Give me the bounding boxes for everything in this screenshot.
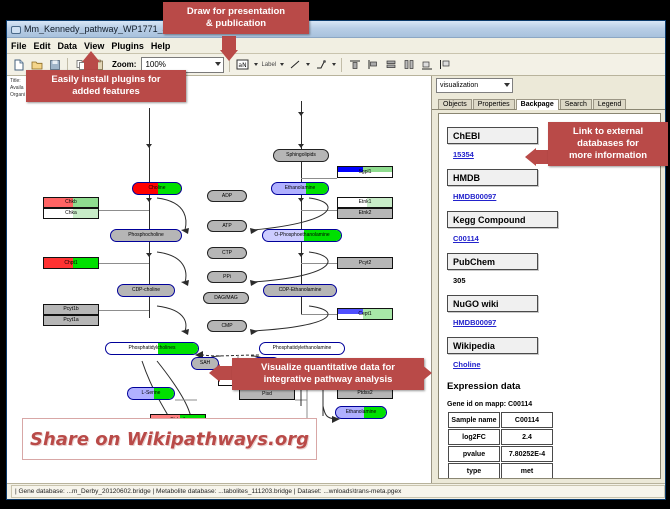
node-label: Pisd	[262, 392, 272, 397]
node-ethanolamine[interactable]: Ethanolamine	[271, 182, 329, 195]
db-value-pubchem: 305	[453, 276, 466, 285]
cell-label: pvalue	[448, 446, 500, 462]
node-label: Pcyt1a	[63, 318, 78, 323]
menu-item-help[interactable]: Help	[151, 41, 171, 51]
tab-objects[interactable]: Objects	[438, 99, 472, 109]
callout-draw-arrow	[220, 50, 238, 61]
node-pcyt1b[interactable]: Pcyt1b	[43, 304, 99, 315]
db-link-hmdb[interactable]: HMDB00097	[453, 192, 496, 201]
node-label: Chkb	[65, 200, 77, 205]
db-link-wikipedia[interactable]: Choline	[453, 360, 481, 369]
expression-data-title: Expression data	[447, 381, 660, 392]
gene-id-line: Gene id on mapp: C00114	[447, 401, 660, 408]
bring-front-icon[interactable]	[419, 57, 434, 72]
cell-label: type	[448, 463, 500, 479]
node-sphingolipids[interactable]: Sphingolipids	[273, 149, 329, 162]
node-label: DAG/MAG	[214, 296, 238, 301]
node-label: Phosphatidylcholines	[129, 346, 176, 351]
node-label: CDP-choline	[132, 288, 160, 293]
callout-draw-line1: Draw for presentation	[170, 6, 302, 18]
callout-links-line2: databases for	[555, 138, 661, 150]
menu-item-data[interactable]: Data	[58, 41, 78, 51]
callout-visualize: Visualize quantitative data for integrat…	[232, 358, 424, 390]
interaction-tool-icon[interactable]	[313, 57, 328, 72]
db-header-kegg: Kegg Compound	[447, 211, 558, 228]
node-phosphocholine[interactable]: Phosphocholine	[110, 229, 182, 242]
db-header-chebi: ChEBI	[447, 127, 538, 144]
backpage-content: ChEBI 15354 HMDB HMDB00097 Kegg Compound…	[438, 113, 661, 479]
node-label: Phosphocholine	[128, 233, 164, 238]
pathvisio-app-icon	[10, 24, 20, 34]
node-adp[interactable]: ADP	[207, 190, 247, 202]
node-label: Ethanolamine	[285, 186, 316, 191]
db-header-pubchem: PubChem	[447, 253, 538, 270]
node-dag-mag[interactable]: DAG/MAG	[203, 292, 249, 304]
db-header-hmdb: HMDB	[447, 169, 538, 186]
tab-properties[interactable]: Properties	[473, 99, 515, 109]
table-row: log2FC 2.4	[448, 429, 553, 445]
callout-share: Share on Wikipathways.org	[22, 418, 317, 460]
cell-label: Sample name	[448, 412, 500, 428]
callout-links-line1: Link to external	[555, 126, 661, 138]
node-etnk2[interactable]: Etnk2	[337, 208, 393, 219]
title-bar: Mm_Kennedy_pathway_WP1771_45176.gpml	[7, 21, 665, 38]
menu-item-edit[interactable]: Edit	[34, 41, 51, 51]
tab-legend[interactable]: Legend	[593, 99, 626, 109]
line-dropdown-icon[interactable]	[306, 63, 310, 66]
node-o-phosphoethanolamine[interactable]: O-Phosphoethanolamine	[262, 229, 342, 242]
callout-plugins-line1: Easily install plugins for	[33, 74, 179, 86]
visualization-row: visualization	[432, 76, 665, 95]
align-left-icon[interactable]	[365, 57, 380, 72]
node-ppi[interactable]: PPi	[207, 271, 247, 283]
node-sgpl1[interactable]: Sgpl1	[337, 166, 393, 178]
cell-value: 7.80252E-4	[501, 446, 553, 462]
db-link-kegg[interactable]: C00114	[453, 234, 479, 243]
node-pcyt2[interactable]: Pcyt2	[337, 257, 393, 269]
menu-item-view[interactable]: View	[84, 41, 104, 51]
label-tool-label: Label	[261, 62, 276, 68]
chevron-down-icon	[504, 83, 510, 87]
chevron-down-icon	[215, 62, 221, 66]
visualization-combobox[interactable]: visualization	[436, 78, 513, 93]
cell-value: C00114	[501, 412, 553, 428]
callout-plugins: Easily install plugins for added feature…	[26, 70, 186, 102]
node-label: Phosphatidylethanolamine	[273, 346, 332, 351]
screenshot-root: Mm_Kennedy_pathway_WP1771_45176.gpml Fil…	[0, 0, 670, 509]
node-label: O-Phosphoethanolamine	[274, 233, 329, 238]
node-label: CDP-Ethanolamine	[279, 288, 322, 293]
callout-visualize-arrow-right	[421, 364, 432, 382]
table-row: Sample name C00114	[448, 412, 553, 428]
cell-label: log2FC	[448, 429, 500, 445]
node-label: ATP	[222, 224, 231, 229]
db-header-nugo: NuGO wiki	[447, 295, 538, 312]
node-l-serine-left[interactable]: L-Serine	[127, 387, 175, 400]
tab-search[interactable]: Search	[560, 99, 592, 109]
node-ctp[interactable]: CTP	[207, 247, 247, 259]
node-label: Choline	[149, 186, 166, 191]
node-chka[interactable]: Chka	[43, 208, 99, 219]
node-label: ADP	[222, 194, 232, 199]
callout-plugins-arrow	[82, 51, 100, 62]
node-label: Ethanolamine	[346, 410, 377, 415]
menu-item-file[interactable]: File	[11, 41, 27, 51]
node-label: CMP	[221, 324, 232, 329]
svg-text:aN: aN	[239, 62, 247, 69]
node-label: PPi	[223, 275, 231, 280]
same-width-icon[interactable]	[401, 57, 416, 72]
node-ethanolamine-2[interactable]: Ethanolamine	[335, 406, 387, 419]
node-label: Etnk2	[359, 211, 372, 216]
node-choline[interactable]: Choline	[132, 182, 182, 195]
cell-value: met	[501, 463, 553, 479]
callout-visualize-line2: integrative pathway analysis	[239, 374, 417, 386]
callout-draw-stem	[222, 36, 236, 50]
align-top-icon[interactable]	[347, 57, 362, 72]
label-dropdown-icon[interactable]	[280, 63, 284, 66]
status-bar-inner: | Gene database: ...m_Derby_20120602.bri…	[11, 485, 665, 498]
zoom-value: 100%	[145, 60, 165, 69]
table-row: pvalue 7.80252E-4	[448, 446, 553, 462]
node-label: Pcyt2	[359, 261, 372, 266]
callout-visualize-arrow	[209, 364, 220, 382]
callout-share-text: Share on Wikipathways.org	[30, 429, 309, 450]
table-row: type met	[448, 463, 553, 479]
node-chkb[interactable]: Chkb	[43, 197, 99, 208]
node-chpt1[interactable]: Chpt1	[43, 257, 99, 269]
callout-links: Link to external databases for more info…	[548, 122, 668, 166]
node-phosphatidylethanolamine[interactable]: Phosphatidylethanolamine	[259, 342, 345, 355]
node-cdp-choline[interactable]: CDP-choline	[117, 284, 175, 297]
node-label: Etnk1	[359, 200, 372, 205]
node-etnk1[interactable]: Etnk1	[337, 197, 393, 208]
node-phosphatidylcholines[interactable]: Phosphatidylcholines	[105, 342, 199, 355]
visualization-value: visualization	[440, 82, 478, 89]
send-back-icon[interactable]	[437, 57, 452, 72]
node-label: Pcyt1b	[63, 307, 78, 312]
node-cdp-ethanolamine[interactable]: CDP-Ethanolamine	[263, 284, 337, 297]
toolbar-separator-3	[341, 58, 342, 72]
callout-visualize-line1: Visualize quantitative data for	[239, 362, 417, 374]
status-bar: | Gene database: ...m_Derby_20120602.bri…	[7, 483, 665, 499]
cell-value: 2.4	[501, 429, 553, 445]
callout-links-line3: more information	[555, 150, 661, 162]
new-file-icon[interactable]	[11, 57, 26, 72]
status-bar-text: | Gene database: ...m_Derby_20120602.bri…	[15, 488, 401, 495]
menu-item-plugins[interactable]: Plugins	[111, 41, 144, 51]
node-label: Cept1	[358, 312, 371, 317]
callout-draw: Draw for presentation & publication	[163, 2, 309, 34]
db-link-chebi[interactable]: 15354	[453, 150, 474, 159]
datanode-dropdown-icon[interactable]	[254, 63, 258, 66]
zoom-label: Zoom:	[112, 60, 136, 69]
db-link-nugo[interactable]: HMDB00097	[453, 318, 496, 327]
node-atp[interactable]: ATP	[207, 220, 247, 232]
align-stack-icon[interactable]	[383, 57, 398, 72]
side-panel-tabs: Objects Properties Backpage Search Legen…	[432, 95, 665, 110]
line-tool-icon[interactable]	[287, 57, 302, 72]
interaction-dropdown-icon[interactable]	[332, 63, 336, 66]
callout-draw-line2: & publication	[170, 18, 302, 30]
node-cmp[interactable]: CMP	[207, 320, 247, 332]
menu-bar: File Edit Data View Plugins Help	[7, 38, 665, 54]
node-label: Ptdss2	[357, 391, 372, 396]
callout-links-arrow	[525, 148, 536, 166]
node-label: Chka	[65, 211, 77, 216]
node-label: Chpt1	[64, 261, 77, 266]
expression-table: Sample name C00114 log2FC 2.4 pvalue 7.8…	[447, 411, 554, 479]
callout-plugins-line2: added features	[33, 86, 179, 98]
tab-backpage[interactable]: Backpage	[516, 99, 559, 110]
db-header-wikipedia: Wikipedia	[447, 337, 538, 354]
node-label: Sgpl1	[359, 170, 372, 175]
node-label: CTP	[222, 251, 232, 256]
node-label: L-Serine	[142, 391, 161, 396]
node-label: Sphingolipids	[286, 153, 316, 158]
node-pcyt1a[interactable]: Pcyt1a	[43, 315, 99, 326]
node-cept1[interactable]: Cept1	[337, 308, 393, 320]
